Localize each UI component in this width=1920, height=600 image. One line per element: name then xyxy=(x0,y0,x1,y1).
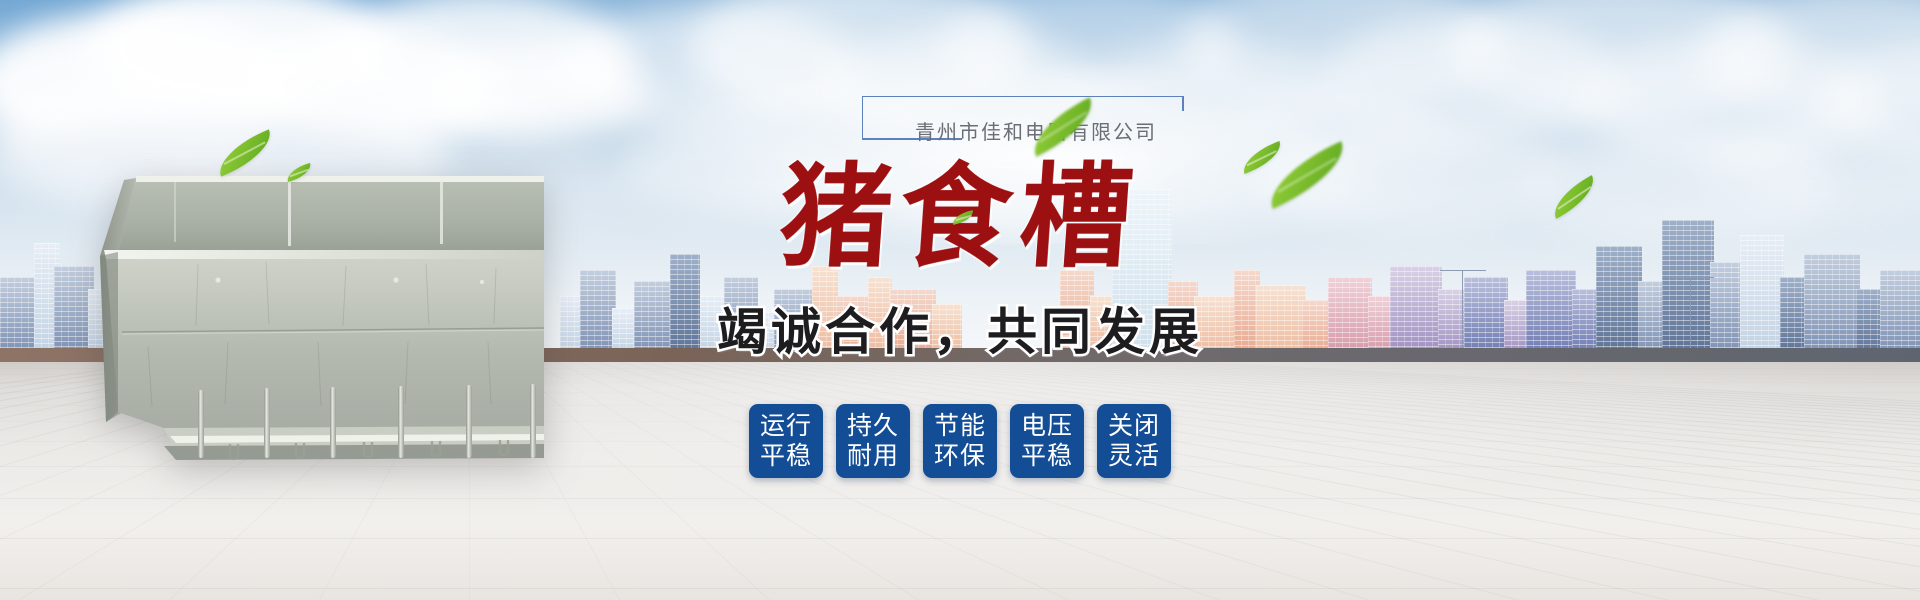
tile-band xyxy=(0,498,1920,499)
feature-badge-line1: 运行 xyxy=(760,411,812,442)
feature-badge[interactable]: 运行平稳 xyxy=(749,404,823,478)
skyline-building xyxy=(1596,246,1642,354)
feature-badge-line1: 电压 xyxy=(1021,411,1073,442)
feature-badge[interactable]: 关闭灵活 xyxy=(1097,404,1171,478)
skyline-building xyxy=(634,281,674,354)
feature-badge[interactable]: 电压平稳 xyxy=(1010,404,1084,478)
skyline-building xyxy=(1464,277,1508,354)
feature-badge-line2: 环保 xyxy=(934,441,986,472)
skyline-building xyxy=(1328,277,1372,354)
feature-badge[interactable]: 持久耐用 xyxy=(836,404,910,478)
banner-copy: 青州市佳和电器有限公司 猪食槽 竭诚合作，共同发展 运行平稳持久耐用节能环保电压… xyxy=(700,96,1220,478)
headline-wrap: 猪食槽 xyxy=(700,162,1220,290)
brand-line: 青州市佳和电器有限公司 xyxy=(700,96,1220,158)
skyline-building xyxy=(1740,235,1784,354)
skyline-building xyxy=(1662,220,1714,354)
feature-badge-line1: 持久 xyxy=(847,411,899,442)
skyline-building xyxy=(1880,270,1920,354)
feature-badge-line2: 灵活 xyxy=(1108,441,1160,472)
skyline-building xyxy=(1390,266,1442,354)
skyline-building xyxy=(1526,270,1576,354)
construction-crane-icon xyxy=(1690,277,1691,354)
skyline-building xyxy=(580,270,616,354)
skyline-building xyxy=(670,254,700,354)
feature-badge-line1: 关闭 xyxy=(1108,411,1160,442)
construction-crane-icon xyxy=(1462,270,1463,354)
feature-badge-line2: 耐用 xyxy=(847,441,899,472)
skyline-building xyxy=(1804,254,1860,354)
tile-band xyxy=(0,538,1920,539)
skyline-building xyxy=(1256,285,1306,354)
product-image-trough xyxy=(78,160,548,460)
crane-arm xyxy=(1668,277,1714,278)
feature-badge[interactable]: 节能环保 xyxy=(923,404,997,478)
promo-banner: 青州市佳和电器有限公司 猪食槽 竭诚合作，共同发展 运行平稳持久耐用节能环保电压… xyxy=(0,0,1920,600)
subtitle-slogan: 竭诚合作，共同发展 xyxy=(700,292,1220,364)
skyline-building xyxy=(1710,262,1744,354)
feature-badge-line1: 节能 xyxy=(934,411,986,442)
feature-badge-line2: 平稳 xyxy=(1021,441,1073,472)
crane-arm xyxy=(1440,270,1486,271)
feature-badge-list: 运行平稳持久耐用节能环保电压平稳关闭灵活 xyxy=(700,404,1220,478)
tile-band xyxy=(0,588,1920,589)
feature-badge-line2: 平稳 xyxy=(760,441,812,472)
